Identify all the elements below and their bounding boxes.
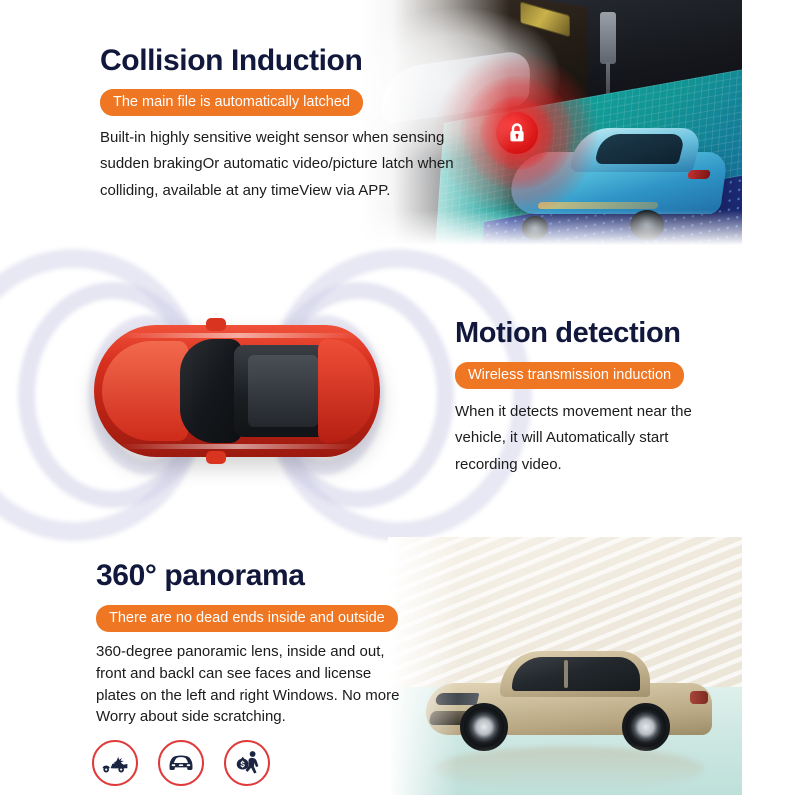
motion-heading: Motion detection [455,317,755,350]
red-car-windshield [180,339,242,443]
red-car-mirror-bottom [206,451,226,464]
motion-badge: Wireless transmission induction [455,362,684,389]
motion-text-block: Motion detection Wireless transmission i… [455,317,755,478]
collision-crash-icon [92,740,138,786]
blue-suv-window [594,134,685,164]
collision-crash-icon-glyph [100,750,130,776]
blue-suv-front-wheel [522,216,548,240]
blue-suv-rear-wheel [630,210,664,240]
gold-sedan-windows [512,657,640,691]
gold-sedan [426,649,712,753]
red-car-highlight-top [118,333,358,338]
red-car-highlight-bottom [118,444,358,449]
car-front-icon-glyph [166,751,196,775]
gold-sedan-reflection [434,747,704,791]
panorama-body: 360-degree panoramic lens, inside and ou… [96,641,406,728]
car-front-icon [158,740,204,786]
thief-money-bag-icon-glyph [232,749,262,777]
section-motion-detection: Motion detection Wireless transmission i… [0,255,800,535]
motion-body: When it detects movement near the vehicl… [455,399,723,478]
red-car-sunroof [248,355,318,427]
red-car-top-view [94,325,380,457]
panorama-text-block: 360° panorama There are no dead ends ins… [96,559,436,728]
red-car-mirror-top [206,318,226,331]
section-collision-induction: Collision Induction The main file is aut… [0,0,800,255]
lock-badge [496,112,538,154]
section-360-panorama: 360° panorama There are no dead ends ins… [0,535,800,800]
gold-sedan-rear-wheel [622,703,670,751]
collision-text-block: Collision Induction The main file is aut… [100,44,480,204]
blue-suv-taillight [687,170,711,179]
panorama-heading: 360° panorama [96,559,436,593]
feature-icon-row [92,740,270,786]
lock-icon [507,122,527,144]
gold-sedan-front-wheel [460,703,508,751]
collision-badge: The main file is automatically latched [100,89,363,116]
product-feature-page: Collision Induction The main file is aut… [0,0,800,800]
panorama-badge: There are no dead ends inside and outsid… [96,605,398,632]
thief-money-bag-icon [224,740,270,786]
motion-artwork [36,267,436,523]
panorama-artwork [388,537,742,795]
collision-heading: Collision Induction [100,44,480,78]
gold-sedan-headlight [435,693,480,705]
gold-sedan-taillight [690,691,708,704]
collision-body: Built-in highly sensitive weight sensor … [100,125,470,204]
garage-pillar [600,12,616,64]
